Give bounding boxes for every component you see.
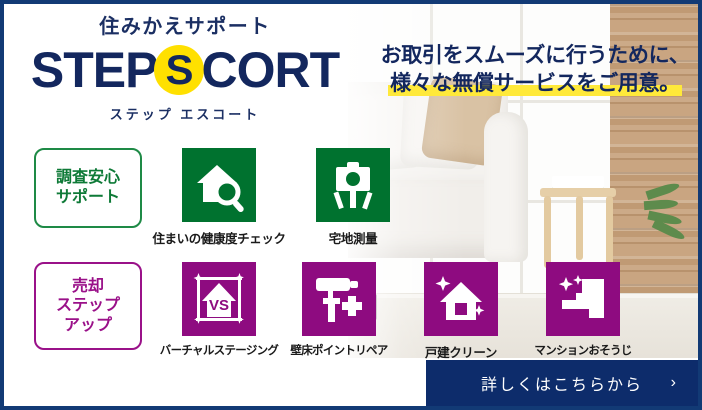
service-virtual-staging[interactable]: VS バーチャルステージング — [160, 262, 278, 358]
service-label: 住まいの健康度チェック — [152, 228, 285, 247]
stepscort-banner: 住みかえサポート STEP S CORT ステップ エスコート お取引をスムーズ… — [0, 0, 702, 410]
logo-wordmark: STEP S CORT — [20, 42, 350, 98]
service-label: マンションおそうじ — [534, 342, 631, 358]
logo-kana-reading: ステップ エスコート — [20, 104, 350, 123]
survey-tripod-icon — [316, 148, 390, 222]
service-condo-cleaning[interactable]: マンションおそうじ — [524, 262, 642, 358]
service-wall-floor-repair[interactable]: 壁床ポイントリペア — [280, 262, 398, 358]
service-land-survey[interactable]: 宅地測量 — [294, 148, 412, 247]
badge-line: サポート — [56, 188, 120, 208]
brand-tagline: 住みかえサポート — [20, 16, 350, 38]
logo-s-badge-icon: S — [154, 45, 204, 95]
headline-line-2: 様々な無償サービスをご用意。 — [390, 72, 680, 95]
badge-line: 売却 — [72, 277, 104, 297]
badge-line: ステップ — [56, 296, 120, 316]
service-label: 戸建クリーン — [425, 342, 497, 361]
chevron-right-icon: › — [671, 374, 676, 392]
service-label: バーチャルステージング — [160, 342, 278, 358]
house-magnifier-icon — [182, 148, 256, 222]
headline: お取引をスムーズに行うために、 様々な無償サービスをご用意。 — [372, 42, 698, 97]
cta-learn-more-button[interactable]: 詳しくはこちらから › — [426, 360, 698, 406]
house-vs-frame-icon: VS — [182, 262, 256, 336]
badge-inspection-support: 調査安心 サポート — [34, 148, 142, 228]
service-label: 壁床ポイントリペア — [290, 342, 387, 358]
brand-logo: 住みかえサポート STEP S CORT ステップ エスコート — [20, 16, 350, 123]
paint-roller-plus-icon — [302, 262, 376, 336]
badge-sale-stepup: 売却 ステップ アップ — [34, 262, 142, 350]
service-group-sale-stepup: 売却 ステップ アップ VS バーチャルステージング — [4, 262, 642, 361]
cta-label: 詳しくはこちらから — [481, 371, 643, 395]
service-label: 宅地測量 — [329, 228, 377, 247]
badge-line: アップ — [64, 316, 112, 336]
headline-line-1: お取引をスムーズに行うために、 — [381, 42, 690, 70]
logo-text-step: STEP — [31, 45, 158, 95]
badge-line: 調査安心 — [56, 168, 120, 188]
sparkling-house-icon — [424, 262, 498, 336]
logo-text-cort: CORT — [201, 45, 339, 95]
logo-s-letter: S — [165, 49, 193, 91]
svg-text:VS: VS — [209, 297, 229, 314]
service-house-clean[interactable]: 戸建クリーン — [402, 262, 520, 361]
service-home-health-check[interactable]: 住まいの健康度チェック — [160, 148, 278, 247]
sparkling-faucet-icon — [546, 262, 620, 336]
service-group-inspection: 調査安心 サポート 住まいの健康度チェック — [4, 148, 412, 247]
headline-line-2-wrap: 様々な無償サービスをご用意。 — [390, 70, 680, 98]
